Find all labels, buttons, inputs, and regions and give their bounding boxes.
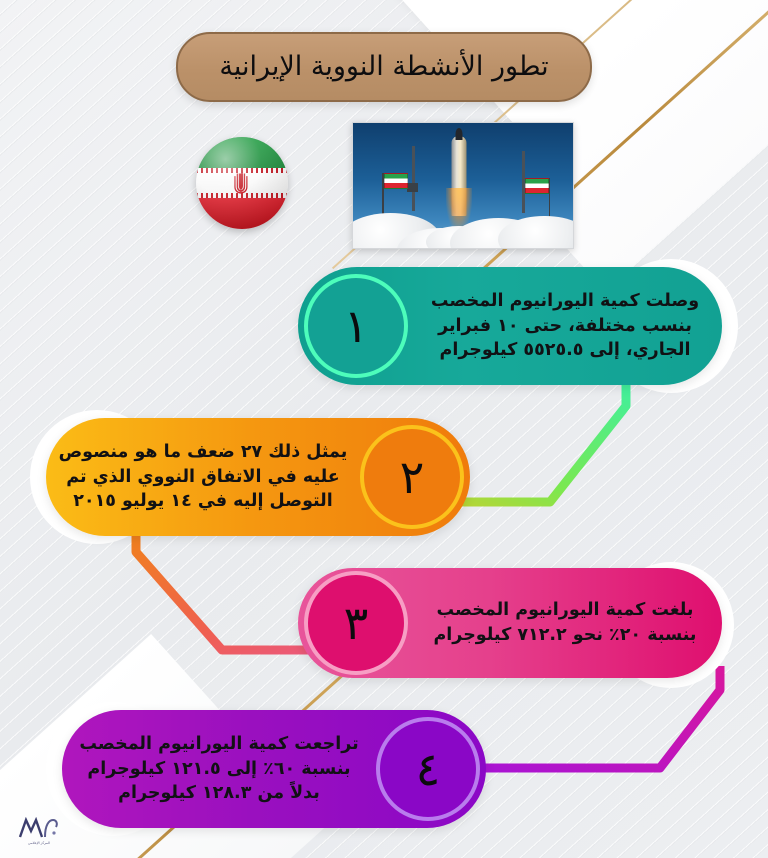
- title-pill: تطور الأنشطة النووية الإيرانية: [176, 32, 592, 102]
- fact-card-3[interactable]: بلغت كمية اليورانيوم المخصب بنسبة ٢٠٪ نح…: [298, 568, 722, 678]
- fact-card-1-number: ١: [304, 274, 408, 378]
- fact-card-1-text: وصلت كمية اليورانيوم المخصب بنسب مختلفة،…: [408, 283, 722, 370]
- photo-iran-flag-right: [525, 178, 549, 194]
- fact-card-3-text: بلغت كمية اليورانيوم المخصب بنسبة ٢٠٪ نح…: [408, 592, 722, 654]
- brand-logo: المركز الإعلامي: [10, 810, 68, 852]
- photo-tower-platform: [407, 183, 418, 192]
- iran-flag-circle-icon: [196, 137, 288, 229]
- page-title: تطور الأنشطة النووية الإيرانية: [205, 52, 562, 82]
- fact-card-4[interactable]: ٤ تراجعت كمية اليورانيوم المخصب بنسبة ٦٠…: [62, 710, 486, 828]
- brand-logo-icon: [18, 817, 60, 839]
- photo-scene: [353, 123, 573, 248]
- infographic-canvas: تطور الأنشطة النووية الإيرانية: [0, 0, 768, 858]
- fact-card-2-text: يمثل ذلك ٢٧ ضعف ما هو منصوص عليه في الات…: [46, 434, 360, 521]
- photo-iran-flag-left: [384, 173, 408, 189]
- fact-card-2[interactable]: ٢ يمثل ذلك ٢٧ ضعف ما هو منصوص عليه في ال…: [46, 418, 470, 536]
- photo-rocket-nose: [455, 128, 462, 140]
- rocket-launch-photo: [352, 122, 574, 249]
- fact-card-1[interactable]: وصلت كمية اليورانيوم المخصب بنسب مختلفة،…: [298, 267, 722, 385]
- fact-card-4-text: تراجعت كمية اليورانيوم المخصب بنسبة ٦٠٪ …: [62, 726, 376, 813]
- flag-badge-gloss: [196, 137, 288, 229]
- brand-logo-subtitle: المركز الإعلامي: [28, 841, 50, 846]
- photo-launch-tower: [412, 146, 415, 211]
- fact-card-3-number: ٣: [304, 571, 408, 675]
- fact-card-2-number: ٢: [360, 425, 464, 529]
- fact-card-4-number: ٤: [376, 717, 480, 821]
- title-container: تطور الأنشطة النووية الإيرانية: [176, 32, 592, 102]
